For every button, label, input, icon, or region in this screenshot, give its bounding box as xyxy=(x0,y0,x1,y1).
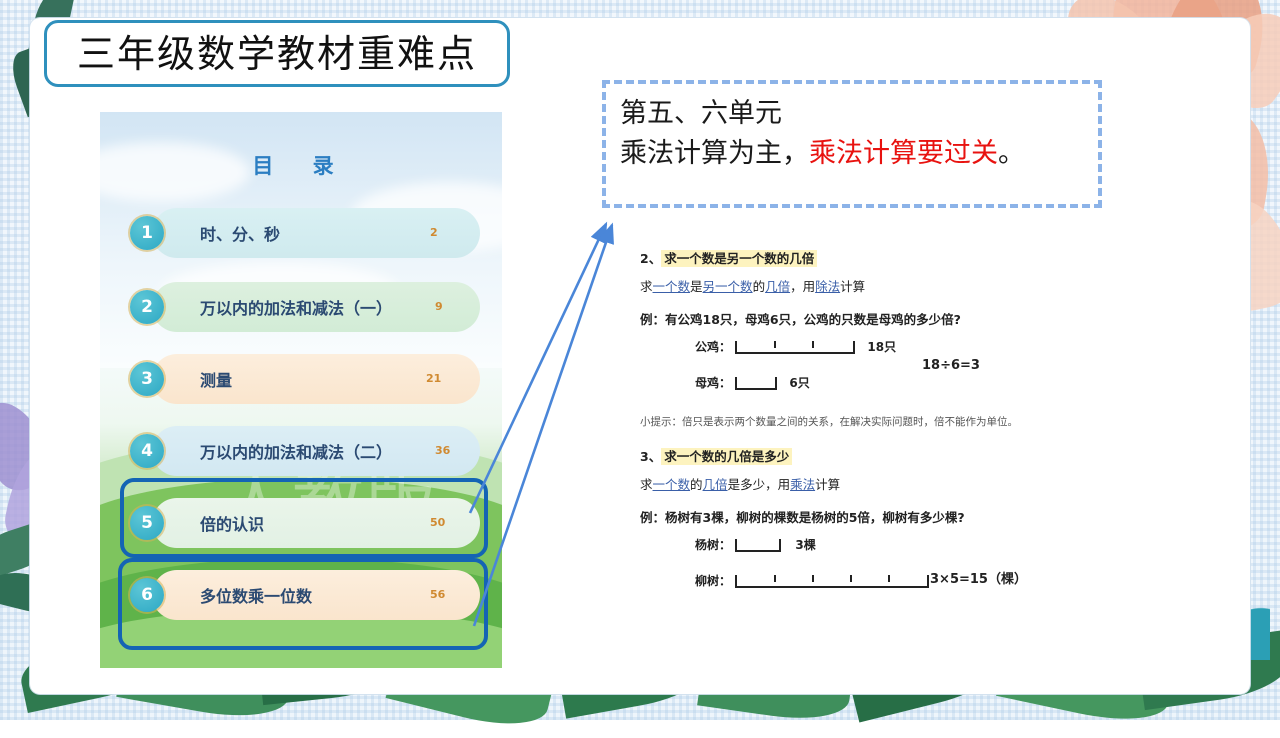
section-2-example: 例：有公鸡18只，母鸡6只，公鸡的只数是母鸡的多少倍? xyxy=(640,309,1110,328)
bar-row-poplar: 杨树： 3棵 xyxy=(695,536,816,553)
bar-graphic xyxy=(735,575,929,588)
toc-item-label: 万以内的加法和减法（一） xyxy=(200,295,392,319)
rule-text: ，用 xyxy=(790,279,815,294)
bar-value: 18只 xyxy=(867,340,896,354)
highlight-box-item-6 xyxy=(118,558,488,650)
rule-term: 一个数 xyxy=(653,477,691,492)
callout-line-1: 第五、六单元 xyxy=(620,94,1084,134)
section-2-rule: 求一个数是另一个数的几倍，用除法计算 xyxy=(640,276,1110,295)
bar-label: 柳树： xyxy=(695,574,731,588)
toc-item-page: 2 xyxy=(430,226,438,239)
toc-number-badge: 1 xyxy=(130,216,164,250)
toc-item-1[interactable]: 1 时、分、秒 2 xyxy=(130,208,480,258)
rule-text: 求 xyxy=(640,477,653,492)
callout-box: 第五、六单元 乘法计算为主，乘法计算要过关。 xyxy=(602,80,1102,208)
section-2-tip: 小提示：倍只是表示两个数量之间的关系，在解决实际问题时，倍不能作为单位。 xyxy=(640,414,1110,432)
bar-value: 3棵 xyxy=(795,538,815,552)
callout-line-2-emphasis: 乘法计算要过关 xyxy=(809,138,998,169)
rule-term: 除法 xyxy=(815,279,840,294)
bar-value: 6只 xyxy=(789,376,809,390)
toc-item-page: 9 xyxy=(435,300,443,313)
rule-text: 计算 xyxy=(815,477,840,492)
rule-term: 几倍 xyxy=(765,279,790,294)
toc-number-badge: 4 xyxy=(130,434,164,468)
rule-text: 计算 xyxy=(840,279,865,294)
toc-item-label: 时、分、秒 xyxy=(200,221,280,245)
section-3-index: 3、 xyxy=(640,449,661,464)
toc-item-label: 测量 xyxy=(200,367,232,391)
bar-graphic xyxy=(735,341,855,354)
section-2-index: 2、 xyxy=(640,251,661,266)
toc-heading: 目 录 xyxy=(100,150,502,180)
toc-item-3[interactable]: 3 测量 21 xyxy=(130,354,480,404)
bar-label: 公鸡： xyxy=(695,340,731,354)
section-2-equation: 18÷6=3 xyxy=(922,358,980,373)
toc-item-label: 万以内的加法和减法（二） xyxy=(200,439,392,463)
bar-graphic xyxy=(735,539,781,552)
bar-row-willow: 柳树： xyxy=(695,572,929,589)
section-2-heading: 2、求一个数是另一个数的几倍 xyxy=(640,248,1110,267)
callout-line-2-prefix: 乘法计算为主， xyxy=(620,138,809,169)
rule-text: 的 xyxy=(753,279,766,294)
callout-line-2: 乘法计算为主，乘法计算要过关。 xyxy=(620,134,1084,174)
section-3-bar-diagram: 杨树： 3棵 柳树： 3×5=15（棵） xyxy=(640,536,1110,596)
section-3-example: 例：杨树有3棵，柳树的棵数是杨树的5倍，柳树有多少棵? xyxy=(640,507,1110,526)
rule-text: 是 xyxy=(690,279,703,294)
section-3-equation: 3×5=15（棵） xyxy=(930,568,1027,587)
toc-item-2[interactable]: 2 万以内的加法和减法（一） 9 xyxy=(130,282,480,332)
bar-label: 母鸡： xyxy=(695,376,731,390)
callout-line-2-suffix: 。 xyxy=(998,138,1025,169)
toc-item-4[interactable]: 4 万以内的加法和减法（二） 36 xyxy=(130,426,480,476)
page-title-box: 三年级数学教材重难点 xyxy=(44,20,510,87)
highlight-box-item-5 xyxy=(120,478,488,558)
bar-row-hen: 母鸡： 6只 xyxy=(695,374,810,391)
rule-term: 一个数 xyxy=(653,279,691,294)
rule-term: 几倍 xyxy=(703,477,728,492)
bar-graphic xyxy=(735,377,777,390)
toc-number-badge: 3 xyxy=(130,362,164,396)
rule-text: 求 xyxy=(640,279,653,294)
rule-text: 是多少，用 xyxy=(728,477,791,492)
rule-term: 乘法 xyxy=(790,477,815,492)
page-title: 三年级数学教材重难点 xyxy=(77,35,477,73)
section-2-title: 求一个数是另一个数的几倍 xyxy=(661,250,817,267)
toc-item-page: 21 xyxy=(426,372,441,385)
toc-number-badge: 2 xyxy=(130,290,164,324)
bar-row-rooster: 公鸡： 18只 xyxy=(695,338,896,355)
rule-text: 的 xyxy=(690,477,703,492)
bar-label: 杨树： xyxy=(695,538,731,552)
section-3-heading: 3、求一个数的几倍是多少 xyxy=(640,446,1110,465)
section-3-rule: 求一个数的几倍是多少，用乘法计算 xyxy=(640,474,1110,493)
section-2-bar-diagram: 公鸡： 18只 母鸡： 6只 18÷6=3 xyxy=(640,338,1110,406)
toc-item-page: 36 xyxy=(435,444,450,457)
section-3-title: 求一个数的几倍是多少 xyxy=(661,448,792,465)
rule-term: 另一个数 xyxy=(703,279,753,294)
notes-panel: 2、求一个数是另一个数的几倍 求一个数是另一个数的几倍，用除法计算 例：有公鸡1… xyxy=(640,248,1110,604)
